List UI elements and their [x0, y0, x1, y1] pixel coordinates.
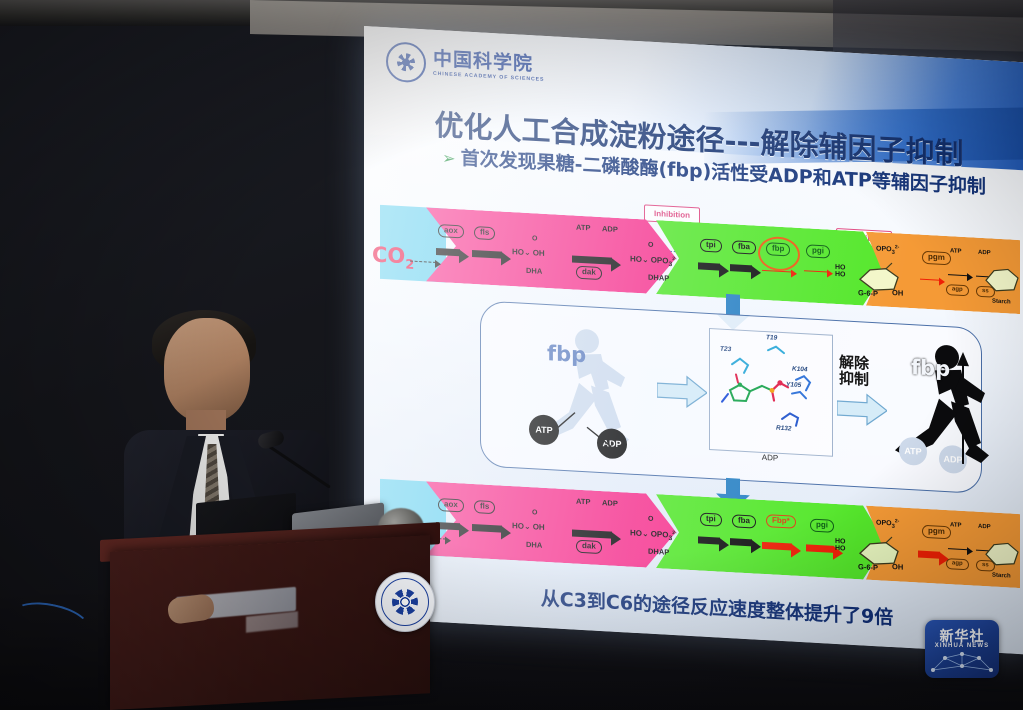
- xinhua-watermark: 新华社 XINHUA NEWS: [925, 620, 999, 678]
- arrow-tpi-bottom: [698, 536, 720, 544]
- residue-t19: T19: [766, 334, 777, 342]
- cofactor-atp-bottom: ATP: [576, 498, 590, 506]
- arrow-aox-top: [436, 248, 460, 256]
- metabolite-dhap-top: DHAP: [648, 274, 669, 283]
- enzyme-aox-bottom: aox: [438, 498, 464, 512]
- metabolite-g6p-top: G-6-P: [858, 289, 878, 298]
- g6p-oh-label-top: OH: [892, 289, 903, 297]
- activity-up-arrow-icon: [955, 352, 971, 469]
- enzyme-fba-top: fba: [732, 240, 756, 254]
- podium-emblem: [375, 572, 435, 632]
- cas-seal-icon: [386, 41, 426, 83]
- enzyme-aox-top: aox: [438, 224, 464, 238]
- enzyme-fls-bottom: fls: [474, 500, 495, 514]
- enzyme-pgi-bottom: pgi: [810, 519, 834, 533]
- metabolite-dha-top: DHA: [526, 267, 542, 275]
- metabolite-starch-top: Starch: [992, 299, 1011, 306]
- photo-scene: 中国科学院 CHINESE ACADEMY OF SCIENCES 优化人工合成…: [0, 0, 1023, 710]
- arrow-fba-top: [730, 264, 752, 272]
- molecule-dhap-carbonyl-top: O: [648, 242, 653, 250]
- release-line-2: 抑制: [839, 371, 869, 388]
- starch-ring-icon: [980, 254, 1023, 303]
- atp-ball-released: ATP: [899, 436, 927, 466]
- mechanism-inset: fbp ATP ADP: [480, 300, 982, 494]
- residue-k104: K104: [792, 366, 808, 374]
- bullet-marker-icon: ➢: [442, 148, 455, 168]
- enzyme-agp-bottom: agp: [946, 558, 969, 570]
- starch-ring-icon-bottom: [980, 528, 1023, 577]
- inset-arrow-left: [657, 373, 707, 410]
- cas-flower-icon: [392, 589, 418, 615]
- enzyme-pgm-bottom: pgm: [922, 525, 951, 539]
- molecule-g6p-formula-top: HOHO: [835, 264, 846, 279]
- inset-arrow-right: [837, 391, 887, 428]
- enzyme-dak-bottom: dak: [576, 540, 602, 554]
- molecule-dha-formula-bottom: HO⌄OH: [512, 522, 545, 532]
- residue-r132: R132: [776, 425, 792, 433]
- inset-fbp-label-left: fbp: [547, 341, 586, 367]
- residue-y105: Y105: [786, 381, 801, 389]
- molecule-g6p-phosphate-top: OPO32-: [876, 244, 899, 256]
- ball-chains-icon: [541, 407, 621, 459]
- residue-t23: T23: [720, 346, 731, 354]
- enzyme-agp-top: agp: [946, 284, 969, 296]
- molecule-dha-carbonyl-bottom: O: [532, 509, 537, 517]
- enzyme-pgi-top: pgi: [806, 244, 830, 258]
- metabolite-dhap-bottom: DHAP: [648, 548, 669, 557]
- enzyme-fbp-star-bottom: Fbp*: [766, 514, 796, 528]
- molecule-dhap-carbonyl-bottom: O: [648, 516, 653, 524]
- cofactor-atp-cn-bottom: ATP: [950, 522, 962, 529]
- arrow-fba-bottom: [730, 538, 752, 546]
- molecule-g6p-phosphate-bottom: OPO32-: [876, 518, 899, 530]
- xinhua-network-icon: [925, 650, 999, 676]
- metabolite-g6p-bottom: G-6-P: [858, 563, 878, 572]
- enzyme-dak-top: dak: [576, 266, 602, 280]
- xinhua-en-text: XINHUA NEWS: [925, 643, 999, 649]
- cofactor-atp-cn-top: ATP: [950, 248, 962, 255]
- substrate-co2-top: CO2: [372, 242, 414, 273]
- release-inhibition-text: 解除 抑制: [839, 355, 869, 388]
- cofactor-adp-bottom: ADP: [602, 499, 618, 507]
- arrow-pgi-bottom: [806, 544, 834, 553]
- enzyme-tpi-bottom: tpi: [700, 512, 722, 526]
- molecule-dha-formula-top: HO⌄OH: [512, 248, 545, 258]
- cofactor-atp-top: ATP: [576, 224, 590, 232]
- cas-logo-text: 中国科学院 CHINESE ACADEMY OF SCIENCES: [433, 50, 544, 83]
- arrow-tpi-top: [698, 262, 720, 270]
- cofactor-adp-top: ADP: [602, 225, 618, 233]
- g6p-oh-label-bottom: OH: [892, 563, 903, 571]
- metabolite-dha-bottom: DHA: [526, 541, 542, 549]
- enzyme-fba-bottom: fba: [732, 514, 756, 528]
- enzyme-pgm-top: pgm: [922, 251, 951, 265]
- molecule-g6p-formula-bottom: HOHO: [835, 538, 846, 553]
- enzyme-tpi-top: tpi: [700, 238, 722, 252]
- projection-screen: 中国科学院 CHINESE ACADEMY OF SCIENCES 优化人工合成…: [364, 26, 1023, 655]
- speaker-head: [164, 318, 250, 422]
- arrow-pgm-bottom: [918, 550, 940, 558]
- inset-fbp-label-right: fbp: [911, 355, 950, 381]
- enzyme-fls-top: fls: [474, 226, 495, 240]
- molecule-dha-carbonyl-top: O: [532, 235, 537, 243]
- protein-structure-box: T19 T23 K104 Y105 R132: [709, 328, 833, 457]
- metabolite-starch-bottom: Starch: [992, 573, 1011, 580]
